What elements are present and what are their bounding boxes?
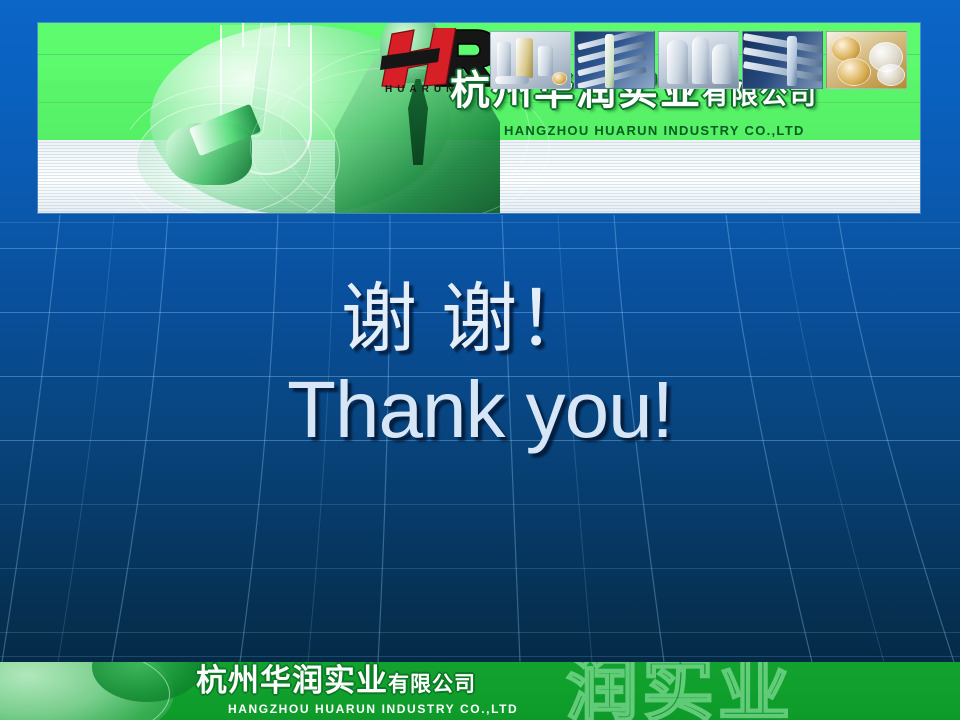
- footer-company-name-en: HANGZHOU HUARUN INDUSTRY CO.,LTD: [228, 702, 518, 716]
- thank-you-english: Thank you!: [0, 368, 960, 452]
- product-photo-pipette-rack: [574, 31, 655, 89]
- footer-watermark-text: 润实业: [566, 662, 794, 720]
- product-photo-pump-spray-bottles: [490, 31, 571, 89]
- product-photo-syringe-needles: [742, 31, 823, 89]
- footer-bar: 润实业 杭州华润实业有限公司 HANGZHOU HUARUN INDUSTRY …: [0, 662, 960, 720]
- header-banner: HUARUN 杭州华润实业有限公司 HANGZHOU HUARUN INDUST…: [38, 23, 920, 213]
- footer-company-name-cn-main: 杭州华润实业: [196, 663, 388, 699]
- huarun-wordmark: HUARUN: [385, 84, 458, 95]
- product-photo-strip: [490, 31, 907, 89]
- product-photo-petri-dishes: [826, 31, 907, 89]
- slide-canvas: HUARUN 杭州华润实业有限公司 HANGZHOU HUARUN INDUST…: [0, 0, 960, 720]
- footer-company-name-cn: 杭州华润实业有限公司: [196, 666, 476, 697]
- footer-globe-ring: [0, 662, 170, 720]
- thank-you-chinese: 谢 谢！: [0, 278, 960, 360]
- footer-company-suffix-cn: 有限公司: [388, 672, 476, 696]
- main-message-block: 谢 谢！ Thank you!: [0, 278, 960, 452]
- banner-company-name-en: HANGZHOU HUARUN INDUSTRY CO.,LTD: [504, 123, 805, 138]
- product-photo-dropper-bottles: [658, 31, 739, 89]
